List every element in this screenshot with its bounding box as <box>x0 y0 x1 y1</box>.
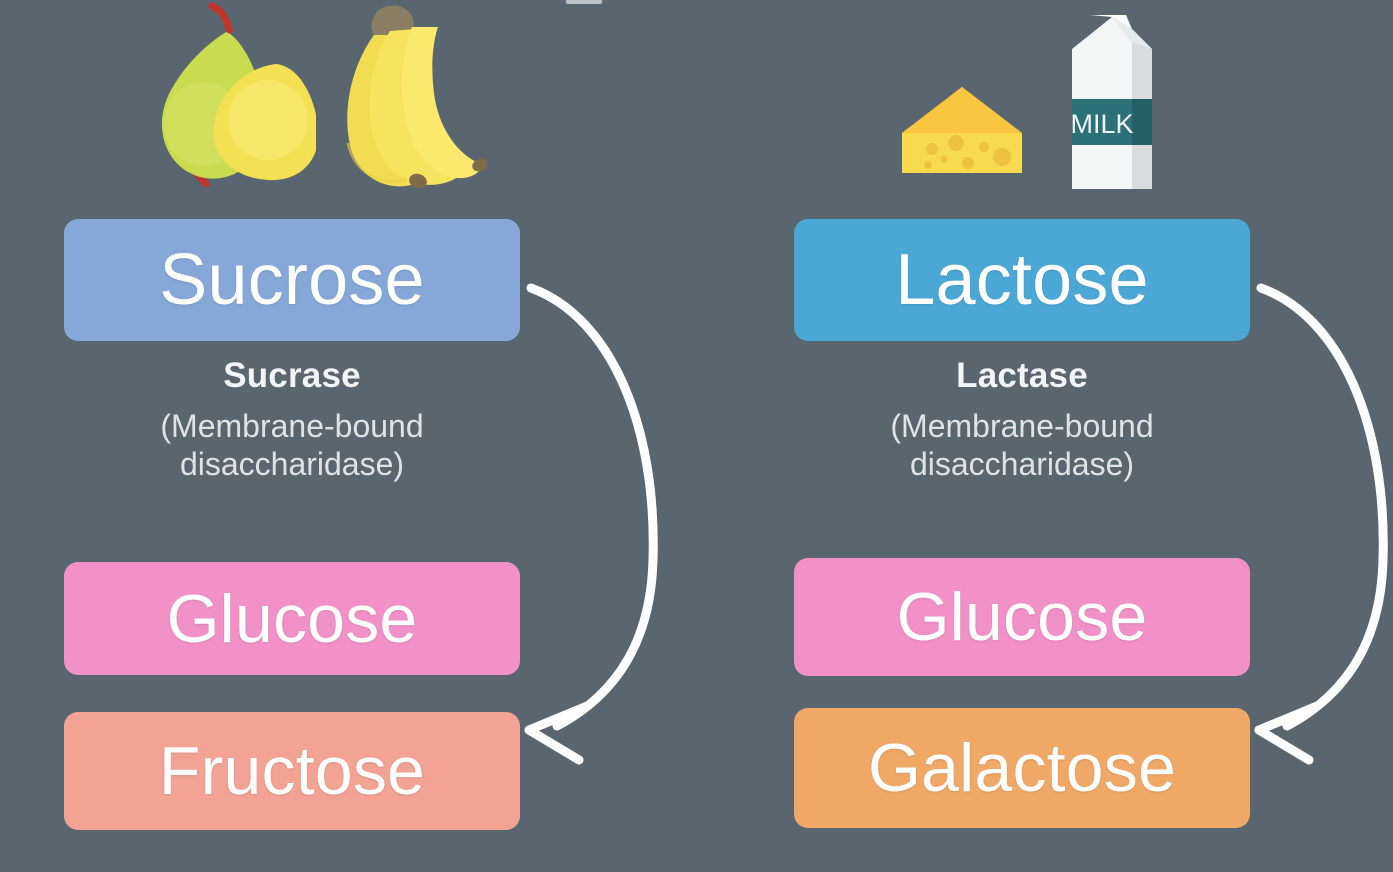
pathway-sucrose: Sucrose Sucrase (Membrane-bound disaccha… <box>64 0 520 872</box>
product-label: Glucose <box>897 583 1148 651</box>
cropped-title-sliver <box>566 0 602 4</box>
product-label: Galactose <box>868 734 1176 802</box>
substrate-label: Lactose <box>895 244 1149 316</box>
enzyme-name: Lactase <box>794 357 1250 394</box>
milk-carton-icon: MILK <box>1064 11 1160 200</box>
pear-icon <box>126 2 316 192</box>
product-label: Glucose <box>167 585 418 653</box>
product-label: Fructose <box>159 737 425 805</box>
pathway-lactose: MILK Lactose Lactase (Membrane-bound dis… <box>794 0 1250 872</box>
enzyme-desc-line-1: (Membrane-bound <box>64 408 520 446</box>
food-group-sucrose <box>102 0 558 210</box>
banana-icon <box>318 5 488 200</box>
product-box-galactose[interactable]: Galactose <box>794 708 1250 828</box>
enzyme-desc-line-2: disaccharidase) <box>64 446 520 484</box>
diagram-canvas: Sucrose Sucrase (Membrane-bound disaccha… <box>0 0 1393 872</box>
product-box-glucose[interactable]: Glucose <box>794 558 1250 676</box>
substrate-label: Sucrose <box>159 244 425 316</box>
enzyme-name: Sucrase <box>64 357 520 394</box>
enzyme-desc-line-2: disaccharidase) <box>794 446 1250 484</box>
enzyme-block-sucrase: Sucrase (Membrane-bound disaccharidase) <box>64 357 520 484</box>
enzyme-desc-line-1: (Membrane-bound <box>794 408 1250 446</box>
enzyme-description: (Membrane-bound disaccharidase) <box>64 408 520 484</box>
milk-carton-label: MILK <box>1070 109 1133 139</box>
enzyme-block-lactase: Lactase (Membrane-bound disaccharidase) <box>794 357 1250 484</box>
enzyme-description: (Membrane-bound disaccharidase) <box>794 408 1250 484</box>
food-group-lactose: MILK <box>892 0 1348 210</box>
cheese-icon <box>898 85 1026 182</box>
product-box-fructose[interactable]: Fructose <box>64 712 520 830</box>
substrate-box-lactose[interactable]: Lactose <box>794 219 1250 341</box>
product-box-glucose[interactable]: Glucose <box>64 562 520 675</box>
substrate-box-sucrose[interactable]: Sucrose <box>64 219 520 341</box>
